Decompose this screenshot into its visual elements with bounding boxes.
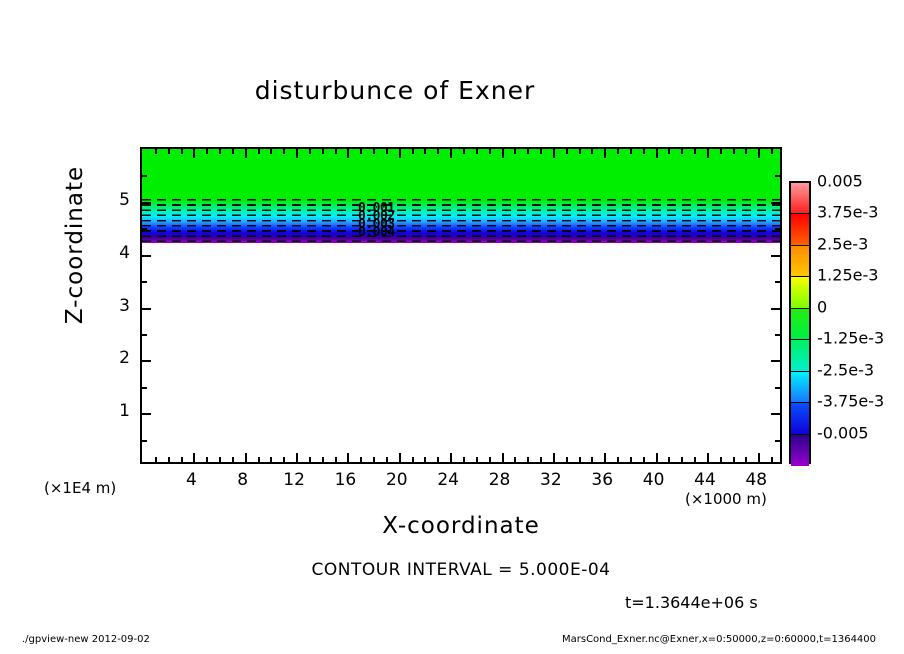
x-tick-label: 44 [694,470,716,490]
x-tick [309,457,311,462]
y-tick-right [775,334,780,336]
time-stamp: t=1.3644e+06 s [625,593,758,612]
x-tick-top [707,149,709,158]
colorbar-tick-label: -3.75e-3 [817,392,884,411]
x-tick-top [463,149,465,154]
x-tick [463,457,465,462]
x-tick [399,453,401,462]
contour-field [142,149,780,243]
y-tick-right [775,281,780,283]
y-tick-right [771,308,780,310]
contour-interval-note: CONTOUR INTERVAL = 5.000E-04 [140,560,782,580]
y-tick-right [775,387,780,389]
x-tick-top [270,149,272,154]
x-tick [681,457,683,462]
y-tick-right [775,175,780,177]
y-tick [142,202,151,204]
field-zero-layer [142,149,780,200]
colorbar-band-red-orange [791,214,809,245]
y-tick-right [771,255,780,257]
colorbar-band-green [791,309,809,340]
y-tick [142,440,147,442]
x-tick-label: 8 [237,470,248,490]
x-tick [168,457,170,462]
x-tick-top [656,149,658,158]
x-tick [245,453,247,462]
colorbar-tick-label: -2.5e-3 [817,360,874,379]
x-tick-label: 4 [186,470,197,490]
x-tick [347,453,349,462]
x-tick-top [514,149,516,154]
x-tick-top [579,149,581,154]
y-tick-right [775,228,780,230]
x-tick-top [566,149,568,154]
x-tick-label: 40 [643,470,665,490]
x-tick-top [668,149,670,154]
colorbar-band-blue [791,403,809,434]
x-tick-label: 48 [745,470,767,490]
x-tick-top [181,149,183,154]
x-tick [335,457,337,462]
x-tick-top [322,149,324,154]
x-tick-top [630,149,632,154]
y-tick [142,308,151,310]
x-tick [707,453,709,462]
x-tick-top [219,149,221,154]
y-tick [142,413,151,415]
x-tick-top [437,149,439,154]
x-tick [373,457,375,462]
x-tick-top [283,149,285,154]
colorbar-tick-label: 1.25e-3 [817,266,878,285]
x-tick-top [386,149,388,154]
x-tick-label: 12 [283,470,305,490]
x-tick-top [296,149,298,158]
x-tick-top [424,149,426,154]
x-tick [566,457,568,462]
x-tick [643,457,645,462]
x-tick-top [720,149,722,154]
x-tick-label: 28 [489,470,511,490]
y-tick-right [771,202,780,204]
colorbar-tick-label: -1.25e-3 [817,329,884,348]
x-tick [193,453,195,462]
colorbar-band-indigo-violet [791,435,809,466]
x-tick [296,453,298,462]
x-tick [758,453,760,462]
x-tick [694,457,696,462]
y-tick [142,281,147,283]
colorbar-band-yellow-green [791,277,809,308]
colorbar-tick-label: -0.005 [817,423,869,442]
plot-area: 0.001 0.002 0.003 0.004 [140,147,782,464]
x-tick-top [502,149,504,158]
x-tick [553,453,555,462]
x-tick [360,457,362,462]
y-tick-label: 4 [112,243,130,263]
y-tick-right [771,413,780,415]
x-tick [720,457,722,462]
x-tick-top [450,149,452,158]
x-tick-label: 16 [335,470,357,490]
y-tick-label: 3 [112,296,130,316]
footer-command: ./gpview-new 2012-09-02 [22,634,150,645]
x-tick [232,457,234,462]
y-tick-label: 1 [112,401,130,421]
x-tick-top [540,149,542,154]
x-tick-top [360,149,362,154]
y-tick-right [771,360,780,362]
x-tick-top [733,149,735,154]
y-tick [142,387,147,389]
x-tick-top [771,149,773,154]
x-tick-top [193,149,195,158]
y-tick [142,228,147,230]
colorbar [789,181,811,464]
x-tick-top [206,149,208,154]
x-tick [579,457,581,462]
x-tick-top [245,149,247,158]
x-tick-top [604,149,606,158]
colorbar-tick-label: 0 [817,297,827,316]
contour-value-label: 0.004 [358,225,395,240]
x-tick [668,457,670,462]
x-tick-top [476,149,478,154]
x-tick-top [258,149,260,154]
x-tick [733,457,735,462]
x-tick [258,457,260,462]
y-tick-label: 2 [112,348,130,368]
y-tick-right [775,440,780,442]
x-tick [437,457,439,462]
z-axis-unit-label: (×1E4 m) [44,479,116,497]
x-axis-unit-label: (×1000 m) [685,490,767,508]
x-tick [206,457,208,462]
x-tick [270,457,272,462]
x-tick [604,453,606,462]
x-tick-top [681,149,683,154]
x-tick-top [617,149,619,154]
x-tick-top [155,149,157,154]
x-tick [514,457,516,462]
x-tick-top [347,149,349,158]
x-tick [630,457,632,462]
x-tick-top [527,149,529,154]
y-tick-label: 5 [112,190,130,210]
x-tick-top [335,149,337,154]
y-tick [142,334,147,336]
x-tick [424,457,426,462]
x-axis-title: X-coordinate [140,513,782,539]
footer-source: MarsCond_Exner.nc@Exner,x=0:50000,z=0:60… [562,634,876,645]
x-tick [745,457,747,462]
x-tick [476,457,478,462]
y-axis-title: Z-coordinate [62,145,88,345]
x-tick [412,457,414,462]
x-tick [540,457,542,462]
x-tick-top [758,149,760,158]
colorbar-tick-label: 0.005 [817,172,863,191]
x-tick-top [373,149,375,154]
y-tick [142,175,147,177]
x-tick-label: 24 [437,470,459,490]
x-tick [527,457,529,462]
x-tick [656,453,658,462]
x-tick [502,453,504,462]
x-tick-top [232,149,234,154]
x-tick-label: 20 [386,470,408,490]
x-tick-top [399,149,401,158]
x-tick [283,457,285,462]
x-tick [386,457,388,462]
x-tick [617,457,619,462]
x-tick [771,457,773,462]
x-tick-top [168,149,170,154]
x-tick-top [553,149,555,158]
x-tick [155,457,157,462]
x-tick [181,457,183,462]
y-tick [142,360,151,362]
x-tick [450,453,452,462]
colorbar-band-green-cyan [791,340,809,371]
x-tick-top [412,149,414,154]
x-tick [591,457,593,462]
x-tick [219,457,221,462]
colorbar-tick-label: 2.5e-3 [817,234,868,253]
x-tick-label: 32 [540,470,562,490]
colorbar-tick-label: 3.75e-3 [817,203,878,222]
colorbar-band-pink-red [791,183,809,214]
x-tick-top [643,149,645,154]
y-tick [142,255,151,257]
page-title: disturbunce of Exner [0,76,790,105]
colorbar-band-orange-amber [791,246,809,277]
x-tick-top [309,149,311,154]
colorbar-band-cyan-blue [791,372,809,403]
x-tick [489,457,491,462]
x-tick [322,457,324,462]
x-tick-top [591,149,593,154]
contour-line-overlay [142,199,780,244]
x-tick-label: 36 [591,470,613,490]
x-tick-top [694,149,696,154]
x-tick-top [489,149,491,154]
x-tick-top [745,149,747,154]
